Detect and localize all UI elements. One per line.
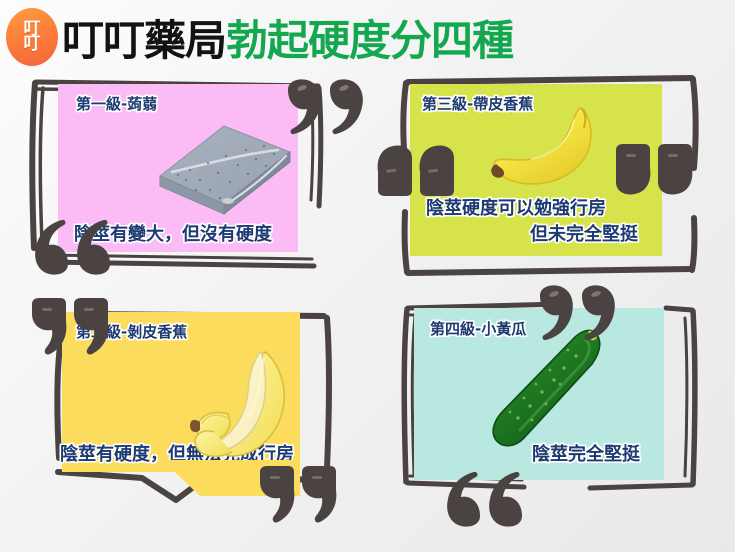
panel-4-quote-close-icon (534, 284, 620, 346)
konjac-block-icon (150, 118, 300, 218)
infographic-canvas: 叮 叮 叮叮藥局勃起硬度分四種 第一級- (0, 0, 735, 552)
panel-3-quote-close-icon (612, 142, 700, 202)
panel-1-quote-close-icon (282, 78, 368, 140)
panel-3-caption-line2: 但未完全堅挺 (530, 220, 638, 246)
header: 叮 叮 叮叮藥局勃起硬度分四種 (0, 0, 735, 72)
title-topic: 勃起硬度分四種 (226, 7, 513, 68)
brand-logo: 叮 叮 (6, 8, 58, 66)
panel-2-quote-close-icon (256, 464, 344, 526)
panel-1-label: 第一級-蒟蒻 (76, 93, 157, 114)
logo-char-bottom: 叮 (24, 36, 41, 53)
panel-4-quote-open-icon (442, 466, 528, 528)
panel-3-quote-open-icon (370, 140, 458, 200)
panel-2-quote-open-icon (28, 296, 116, 358)
panel-1-quote-open-icon (30, 214, 116, 276)
page-title: 叮叮藥局勃起硬度分四種 (62, 6, 513, 68)
title-brand: 叮叮藥局 (62, 7, 226, 68)
banana-peeled-icon (180, 348, 310, 466)
banana-peel-on-icon (478, 104, 608, 194)
